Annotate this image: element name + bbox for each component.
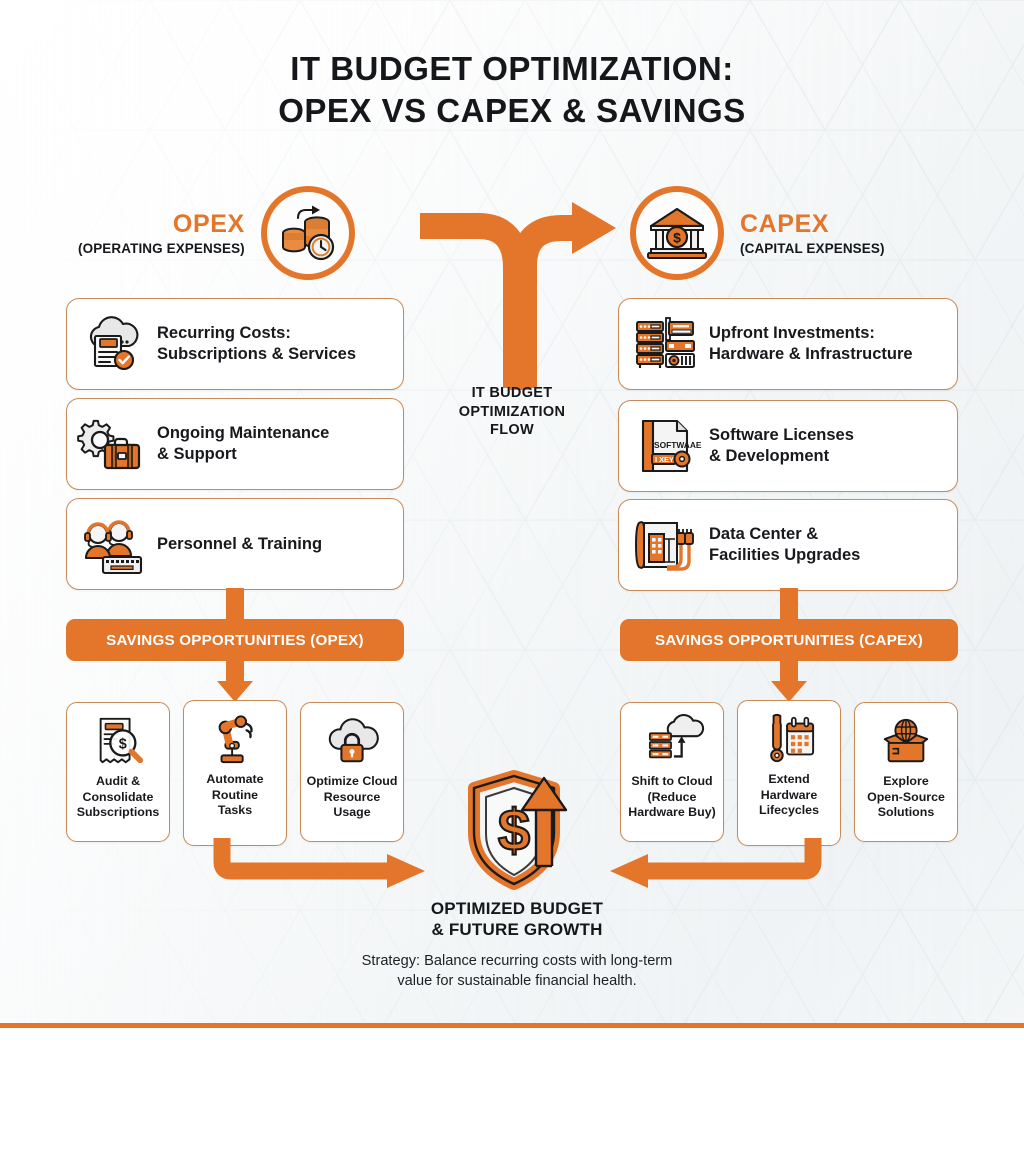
server-rack-hardware-icon: [633, 312, 697, 376]
opex-card-1-line-1: Recurring Costs:: [157, 324, 291, 342]
opex-card-1-line-2: Subscriptions & Services: [157, 345, 356, 363]
capex-saving-2-line-3: Lifecycles: [759, 803, 819, 817]
title-line-1: IT BUDGET OPTIMIZATION:: [290, 50, 734, 87]
capex-card-1-text: Upfront Investments: Hardware & Infrastr…: [709, 323, 913, 364]
capex-header-text: CAPEX (CAPITAL EXPENSES): [724, 210, 885, 256]
capex-card-2-line-1: Software Licenses: [709, 426, 854, 444]
opex-saving-3-line-2: Resource: [324, 790, 380, 804]
opex-saving-3-text: Optimize Cloud Resource Usage: [307, 774, 398, 821]
capex-saving-3-line-3: Solutions: [878, 805, 934, 819]
opex-saving-audit[interactable]: $ Audit & Consolidate Subscriptions: [66, 702, 170, 842]
capex-saving-1-line-1: Shift to Cloud: [631, 774, 712, 788]
software-license-key-icon: SOFTWAAE I XEY: [633, 414, 697, 478]
open-box-globe-icon: [879, 714, 933, 768]
capex-card-3-text: Data Center & Facilities Upgrades: [709, 524, 860, 565]
flow-branch-arrow: [420, 188, 620, 398]
headset-agents-keyboard-icon: [81, 512, 145, 576]
capex-subtitle: (CAPITAL EXPENSES): [740, 241, 885, 257]
capex-badge: $: [630, 186, 724, 280]
capex-saving-1-line-2: (Reduce: [648, 790, 697, 804]
capex-saving-shift-cloud[interactable]: Shift to Cloud (Reduce Hardware Buy): [620, 702, 724, 842]
shield-dollar-growth-icon: $: [452, 772, 582, 890]
capex-title: CAPEX: [740, 210, 885, 239]
outcome-title-line-2: & FUTURE GROWTH: [431, 920, 602, 939]
capex-saving-1-line-3: Hardware Buy): [628, 805, 715, 819]
capex-card-2-text: Software Licenses & Development: [709, 425, 854, 466]
opex-saving-1-text: Audit & Consolidate Subscriptions: [77, 774, 160, 821]
savings-banner-opex: SAVINGS OPPORTUNITIES (OPEX): [66, 619, 404, 661]
capex-saving-3-line-2: Open-Source: [867, 790, 945, 804]
coins-clock-icon: [277, 202, 339, 264]
svg-text:$: $: [119, 737, 127, 753]
capex-elbow-arrow-to-outcome: [600, 838, 830, 898]
opex-card-3-text: Personnel & Training: [157, 534, 322, 555]
capex-saving-2-line-1: Extend: [768, 772, 809, 786]
capex-saving-open-source[interactable]: Explore Open-Source Solutions: [854, 702, 958, 842]
title-line-2: OPEX VS CAPEX & SAVINGS: [0, 90, 1024, 132]
key-icon-label: I XEY: [655, 455, 674, 464]
capex-card-software-licenses[interactable]: SOFTWAAE I XEY Software Licenses & Devel…: [618, 400, 958, 492]
invoice-magnifier-dollar-icon: $: [91, 714, 145, 768]
capex-saving-2-text: Extend Hardware Lifecycles: [759, 772, 819, 819]
strategy-line-2: value for sustainable financial health.: [397, 973, 636, 989]
capex-down-arrow-to-banner: [759, 588, 819, 622]
capex-card-3-line-2: Facilities Upgrades: [709, 546, 860, 564]
opex-saving-2-line-3: Tasks: [218, 803, 252, 817]
opex-card-2-text: Ongoing Maintenance & Support: [157, 423, 329, 464]
capex-card-3-line-1: Data Center &: [709, 525, 818, 543]
opex-saving-1-line-2: Consolidate: [83, 790, 154, 804]
opex-card-recurring-costs[interactable]: Recurring Costs: Subscriptions & Service…: [66, 298, 404, 390]
opex-subtitle: (OPERATING EXPENSES): [78, 241, 245, 257]
flow-label-line-2: OPTIMIZATION: [459, 404, 565, 420]
blueprint-cables-icon: [633, 513, 697, 577]
savings-banner-capex: SAVINGS OPPORTUNITIES (CAPEX): [620, 619, 958, 661]
opex-elbow-arrow-to-outcome: [205, 838, 435, 898]
opex-header-text: OPEX (OPERATING EXPENSES): [78, 210, 261, 256]
outcome-icon-wrap: $: [452, 772, 582, 890]
wrench-calendar-icon: [762, 712, 816, 766]
software-icon-label: SOFTWAAE: [654, 440, 702, 450]
cloud-invoice-check-icon: [81, 312, 145, 376]
strategy-line-1: Strategy: Balance recurring costs with l…: [362, 953, 673, 969]
opex-down-arrow-to-savings: [205, 659, 265, 703]
opex-saving-2-line-1: Automate: [206, 772, 263, 786]
opex-down-arrow-to-banner: [205, 588, 265, 622]
capex-header: $ CAPEX (CAPITAL EXPENSES): [630, 186, 885, 280]
outcome-title-line-1: OPTIMIZED BUDGET: [431, 899, 603, 918]
cloud-lock-icon: [325, 714, 379, 768]
svg-text:$: $: [673, 230, 681, 246]
footer: Tech Dynamix techdynamix.com: [0, 1028, 1024, 1154]
opex-saving-1-line-3: Subscriptions: [77, 805, 160, 819]
strategy-text: Strategy: Balance recurring costs with l…: [262, 952, 772, 991]
capex-saving-1-text: Shift to Cloud (Reduce Hardware Buy): [628, 774, 715, 821]
opex-saving-3-line-1: Optimize Cloud: [307, 774, 398, 788]
page-title: IT BUDGET OPTIMIZATION: OPEX VS CAPEX & …: [0, 48, 1024, 132]
opex-saving-2-text: Automate Routine Tasks: [206, 772, 263, 819]
flow-label-line-1: IT BUDGET: [472, 385, 553, 401]
opex-saving-3-line-3: Usage: [333, 805, 370, 819]
opex-card-1-text: Recurring Costs: Subscriptions & Service…: [157, 323, 356, 364]
capex-card-2-line-2: & Development: [709, 447, 829, 465]
opex-header: OPEX (OPERATING EXPENSES): [78, 186, 355, 280]
opex-saving-automate[interactable]: Automate Routine Tasks: [183, 700, 287, 846]
capex-saving-extend-lifecycles[interactable]: Extend Hardware Lifecycles: [737, 700, 841, 846]
robot-arm-icon: [208, 712, 262, 766]
opex-saving-1-line-1: Audit &: [96, 774, 140, 788]
server-to-cloud-icon: [645, 714, 699, 768]
capex-card-upfront-investments[interactable]: Upfront Investments: Hardware & Infrastr…: [618, 298, 958, 390]
infographic-body: IT BUDGET OPTIMIZATION: OPEX VS CAPEX & …: [0, 0, 1024, 1023]
capex-saving-2-line-2: Hardware: [761, 788, 817, 802]
gear-toolbox-icon: [81, 412, 145, 476]
opex-saving-2-line-2: Routine: [212, 788, 258, 802]
capex-card-1-line-2: Hardware & Infrastructure: [709, 345, 913, 363]
flow-label-line-3: FLOW: [490, 422, 534, 438]
opex-card-2-line-2: & Support: [157, 445, 237, 463]
opex-card-3-line-1: Personnel & Training: [157, 535, 322, 553]
capex-saving-3-line-1: Explore: [883, 774, 928, 788]
opex-card-personnel[interactable]: Personnel & Training: [66, 498, 404, 590]
capex-down-arrow-to-savings: [759, 659, 819, 703]
opex-card-maintenance[interactable]: Ongoing Maintenance & Support: [66, 398, 404, 490]
bank-dollar-icon: $: [647, 203, 707, 263]
opex-card-2-line-1: Ongoing Maintenance: [157, 424, 329, 442]
opex-badge: [261, 186, 355, 280]
capex-card-1-line-1: Upfront Investments:: [709, 324, 875, 342]
capex-saving-3-text: Explore Open-Source Solutions: [867, 774, 945, 821]
opex-title: OPEX: [78, 210, 245, 239]
infographic-canvas: IT BUDGET OPTIMIZATION: OPEX VS CAPEX & …: [0, 0, 1024, 1154]
opex-saving-cloud[interactable]: Optimize Cloud Resource Usage: [300, 702, 404, 842]
flow-label: IT BUDGET OPTIMIZATION FLOW: [437, 384, 587, 440]
capex-card-data-center[interactable]: Data Center & Facilities Upgrades: [618, 499, 958, 591]
outcome-title: OPTIMIZED BUDGET & FUTURE GROWTH: [362, 898, 672, 940]
